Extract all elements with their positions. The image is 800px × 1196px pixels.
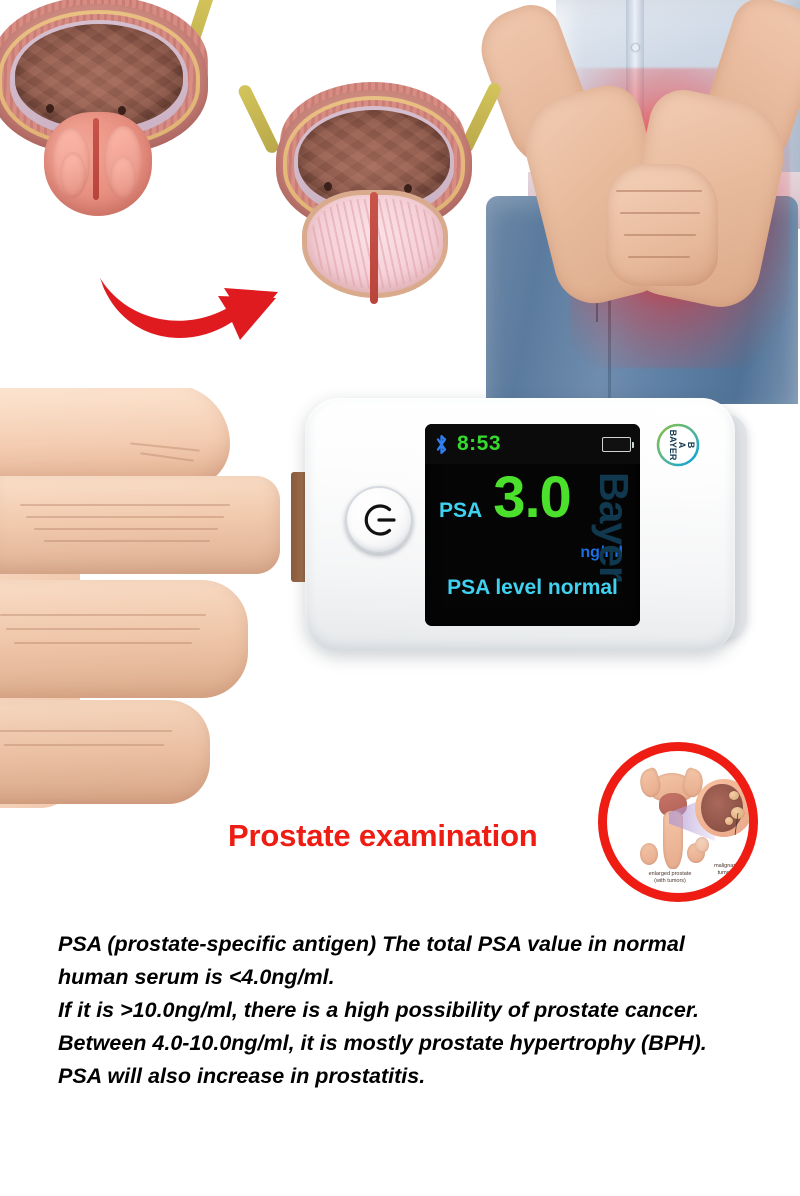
psa-tester-device[interactable]: 8:53 PSA 3.0 ng/ml PSA level normal: [305, 398, 760, 654]
hand-with-finger-in-device-photo: [0, 388, 350, 808]
exam-title: Prostate examination: [228, 818, 538, 854]
bluetooth-icon: [434, 434, 449, 455]
psa-value: 3.0: [493, 470, 571, 525]
ureter-left: [236, 83, 280, 155]
clock-time: 8:53: [457, 432, 501, 456]
device-body: 8:53 PSA 3.0 ng/ml PSA level normal: [305, 398, 735, 652]
hero-collage: [0, 0, 800, 410]
prostate-exam-inset-circle: enlarged prostate (with tumors) malignan…: [598, 742, 758, 902]
man-holding-groin-photo: [478, 0, 800, 404]
epididymis: [695, 837, 709, 853]
index-finger-in-device: [0, 476, 280, 574]
tumor-pointer-line: [695, 779, 753, 837]
screen-status-bar: 8:53: [425, 424, 640, 464]
magnified-prostate-view: [695, 779, 753, 837]
prostate-tumor-illustration: enlarged prostate (with tumors) malignan…: [607, 751, 749, 893]
red-curved-arrow: [100, 252, 280, 344]
thumb: [0, 388, 230, 488]
svg-text:BAYER: BAYER: [668, 430, 678, 461]
ring-finger: [0, 700, 210, 804]
bayer-cross-logo: B A BAYER: [655, 422, 701, 468]
battery-icon: [602, 437, 631, 452]
shirt-button: [632, 44, 639, 51]
psa-label: PSA: [439, 499, 482, 523]
inset-caption-right: malignant tumors: [699, 863, 753, 878]
bayer-wordmark: Bayer: [597, 472, 637, 612]
psa-description-block: PSA (prostate-specific antigen) The tota…: [58, 928, 748, 1093]
power-icon: [359, 500, 399, 540]
product-infographic-page: 8:53 PSA 3.0 ng/ml PSA level normal: [0, 0, 800, 1196]
inset-caption-right-line2: tumors: [699, 870, 753, 877]
ureteric-orifice-left: [46, 104, 54, 113]
description-paragraph-2: If it is >10.0ng/ml, there is a high pos…: [58, 994, 748, 1093]
middle-finger: [0, 580, 248, 698]
inset-caption-right-line1: malignant: [699, 863, 753, 870]
normal-prostate-anatomy: [0, 0, 238, 244]
urethra: [93, 118, 99, 200]
description-paragraph-1: PSA (prostate-specific antigen) The tota…: [58, 928, 748, 994]
interlocked-fingers: [606, 164, 718, 286]
testis-left: [640, 843, 658, 865]
ureteric-orifice-left: [324, 182, 332, 191]
inset-caption-left-line2: (with tumors): [623, 878, 717, 885]
power-button[interactable]: [345, 486, 413, 554]
urethra: [370, 192, 378, 304]
